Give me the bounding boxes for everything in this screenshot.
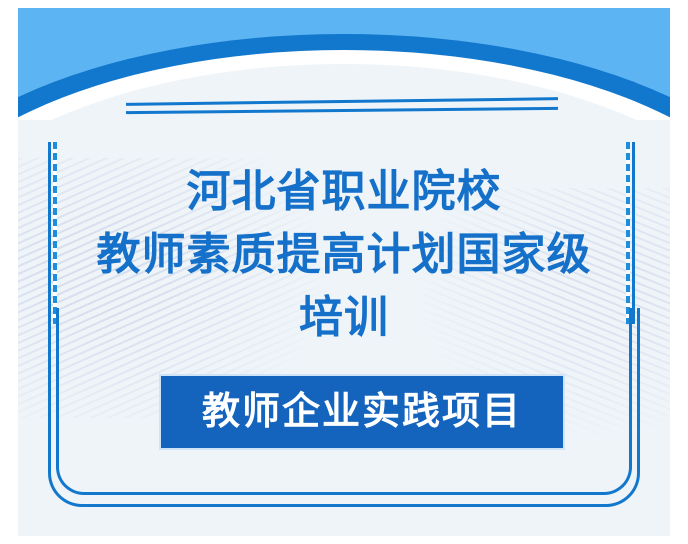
poster-root: 河北省职业院校 教师素质提高计划国家级 培训 教师企业实践项目: [0, 0, 688, 544]
header-band: [18, 8, 670, 128]
subtitle-banner: 教师企业实践项目: [161, 376, 563, 448]
poster-body: [18, 120, 670, 536]
poster-panel: 河北省职业院校 教师素质提高计划国家级 培训 教师企业实践项目: [18, 8, 670, 536]
subtitle-banner-label: 教师企业实践项目: [202, 393, 522, 431]
